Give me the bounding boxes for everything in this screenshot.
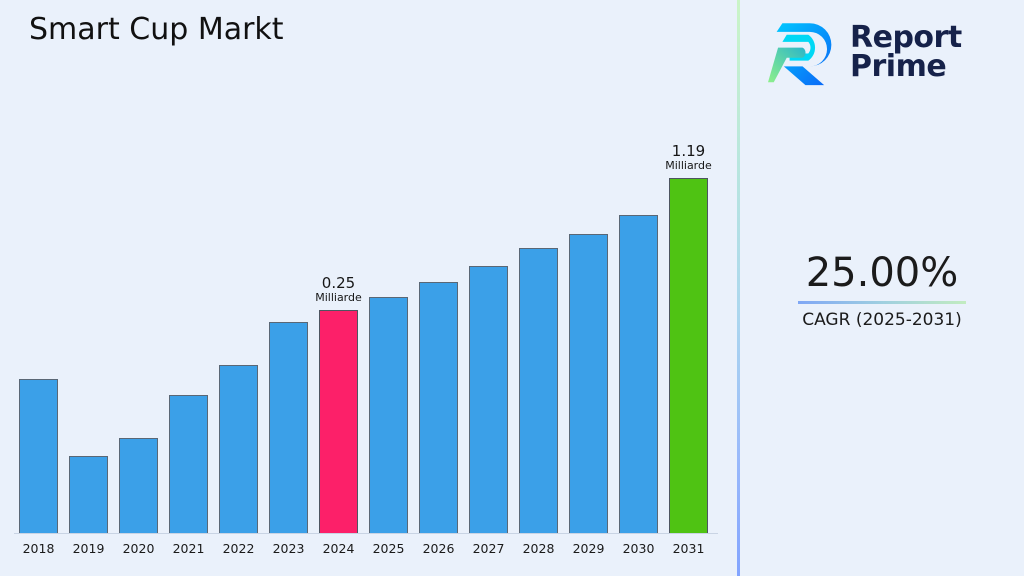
x-tick-2018: 2018 <box>19 541 58 556</box>
x-tick-2025: 2025 <box>369 541 408 556</box>
bar-2029[interactable] <box>569 234 608 533</box>
bar-value-2024: 0.25 <box>315 275 362 292</box>
chart-panel: Smart Cup Markt 201820192020202120222023… <box>0 0 738 576</box>
bar-value-2031: 1.19 <box>665 143 712 160</box>
bar-group-2028 <box>519 248 558 533</box>
bar-chart-plot: 2018201920202021202220230.25Milliarde202… <box>0 0 738 576</box>
brand-name: Report Prime <box>850 23 962 82</box>
bar-value-label-2024: 0.25Milliarde <box>315 275 362 304</box>
bar-2025[interactable] <box>369 297 408 533</box>
bar-group-2027 <box>469 266 508 533</box>
bar-group-2023 <box>269 322 308 533</box>
bar-group-2020 <box>119 438 158 533</box>
bar-2027[interactable] <box>469 266 508 533</box>
brand-name-line1: Report <box>850 23 962 52</box>
x-axis-line <box>14 533 718 534</box>
cagr-value: 25.00% <box>740 252 1024 294</box>
bar-group-2022 <box>219 365 258 533</box>
bar-2022[interactable] <box>219 365 258 533</box>
cagr-divider-rule <box>798 301 966 304</box>
bar-value-label-2031: 1.19Milliarde <box>665 143 712 172</box>
x-tick-2022: 2022 <box>219 541 258 556</box>
x-tick-2031: 2031 <box>669 541 708 556</box>
bar-unit-2031: Milliarde <box>665 160 712 172</box>
bar-2028[interactable] <box>519 248 558 533</box>
bar-group-2031: 1.19Milliarde <box>669 178 708 533</box>
cagr-caption: CAGR (2025-2031) <box>740 310 1024 330</box>
bar-2026[interactable] <box>419 282 458 533</box>
bar-group-2019 <box>69 456 108 533</box>
bar-group-2018 <box>19 379 58 533</box>
bar-2019[interactable] <box>69 456 108 533</box>
x-tick-2024: 2024 <box>319 541 358 556</box>
bar-group-2024: 0.25Milliarde <box>319 310 358 533</box>
x-tick-2021: 2021 <box>169 541 208 556</box>
bar-group-2029 <box>569 234 608 533</box>
x-tick-2019: 2019 <box>69 541 108 556</box>
bar-group-2025 <box>369 297 408 533</box>
chart-infographic: Smart Cup Markt 201820192020202120222023… <box>0 0 1024 576</box>
bar-2031[interactable] <box>669 178 708 533</box>
x-tick-2020: 2020 <box>119 541 158 556</box>
x-tick-2028: 2028 <box>519 541 558 556</box>
bar-2021[interactable] <box>169 395 208 533</box>
brand-logo: Report Prime <box>768 8 1008 96</box>
x-tick-2027: 2027 <box>469 541 508 556</box>
brand-name-line2: Prime <box>850 52 962 81</box>
bar-2023[interactable] <box>269 322 308 533</box>
bar-group-2026 <box>419 282 458 533</box>
bar-2024[interactable] <box>319 310 358 533</box>
x-tick-2029: 2029 <box>569 541 608 556</box>
x-tick-2026: 2026 <box>419 541 458 556</box>
cagr-block: 25.00% CAGR (2025-2031) <box>740 252 1024 330</box>
bar-group-2030 <box>619 215 658 533</box>
report-prime-logo-icon <box>768 16 840 88</box>
brand-panel: Report Prime 25.00% CAGR (2025-2031) <box>740 0 1024 576</box>
bar-group-2021 <box>169 395 208 533</box>
x-tick-2023: 2023 <box>269 541 308 556</box>
bar-2018[interactable] <box>19 379 58 533</box>
x-tick-2030: 2030 <box>619 541 658 556</box>
bar-2020[interactable] <box>119 438 158 533</box>
bar-2030[interactable] <box>619 215 658 533</box>
bar-unit-2024: Milliarde <box>315 292 362 304</box>
